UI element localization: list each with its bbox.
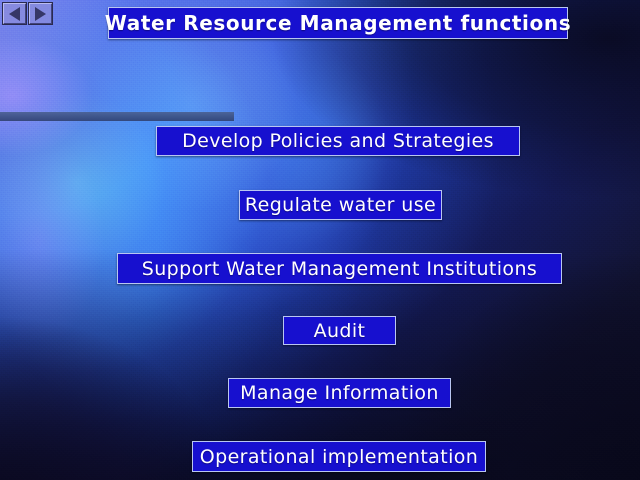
function-item-label: Operational implementation bbox=[200, 446, 478, 468]
function-item-label: Support Water Management Institutions bbox=[142, 258, 537, 280]
triangle-right-icon bbox=[35, 7, 46, 21]
function-item-label: Develop Policies and Strategies bbox=[182, 130, 494, 152]
triangle-left-icon bbox=[9, 7, 20, 21]
function-item-develop-policies-and-strategies[interactable]: Develop Policies and Strategies bbox=[156, 126, 520, 156]
function-item-support-water-management-institutions[interactable]: Support Water Management Institutions bbox=[117, 253, 562, 284]
function-item-label: Regulate water use bbox=[245, 194, 436, 216]
function-item-audit[interactable]: Audit bbox=[283, 316, 396, 345]
slide-canvas: Water Resource Management functions Deve… bbox=[0, 0, 640, 480]
function-item-label: Audit bbox=[314, 320, 366, 342]
function-item-manage-information[interactable]: Manage Information bbox=[228, 378, 451, 408]
function-item-regulate-water-use[interactable]: Regulate water use bbox=[239, 190, 442, 220]
slide-title-box: Water Resource Management functions bbox=[108, 7, 568, 39]
function-item-operational-implementation[interactable]: Operational implementation bbox=[192, 441, 486, 472]
horizontal-divider-bar bbox=[0, 112, 234, 121]
function-item-label: Manage Information bbox=[240, 382, 439, 404]
background-noise-texture bbox=[0, 0, 640, 480]
slide-navigation-controls bbox=[2, 2, 53, 25]
next-slide-button[interactable] bbox=[28, 2, 53, 25]
slide-title-text: Water Resource Management functions bbox=[105, 11, 571, 35]
previous-slide-button[interactable] bbox=[2, 2, 27, 25]
